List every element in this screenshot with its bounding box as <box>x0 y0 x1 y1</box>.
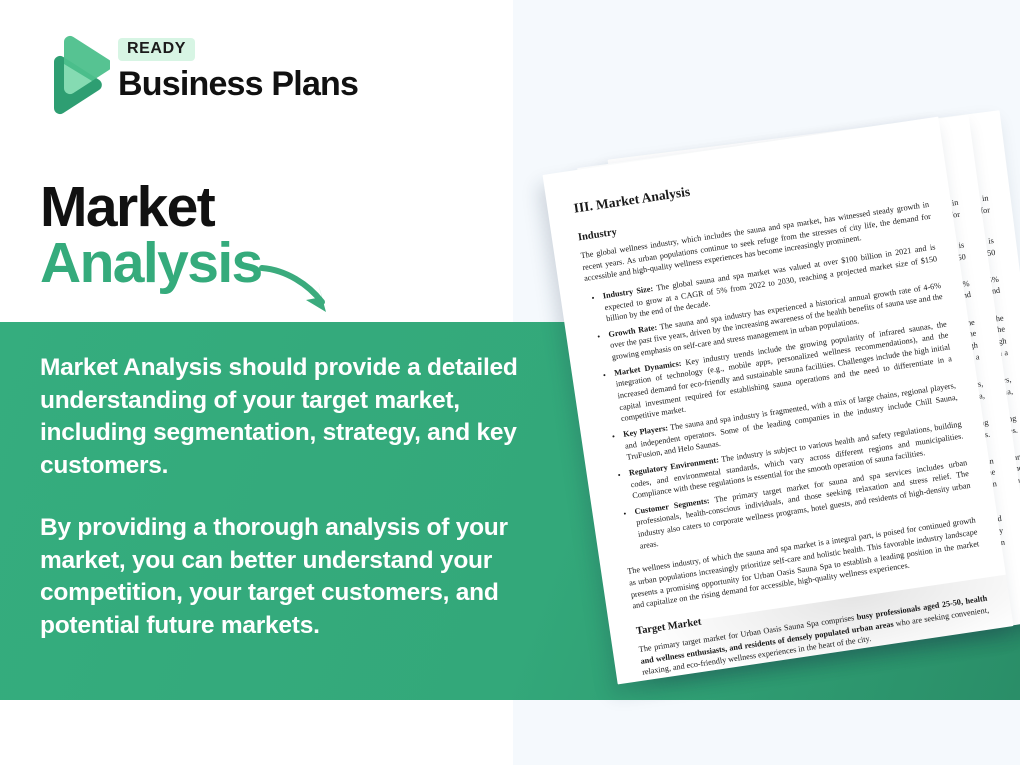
brand-wordmark: READY Business Plans <box>118 38 368 103</box>
brand-name: Business Plans <box>118 67 368 103</box>
page-title-line-2: Analysis <box>40 234 262 292</box>
play-triangle-logo-icon <box>40 34 110 116</box>
doc-bullet-list: Industry Size: The global sauna and spa … <box>586 241 973 554</box>
brand-logo[interactable]: READY Business Plans <box>40 32 370 122</box>
ready-badge: READY <box>118 38 195 61</box>
slide-canvas: READY Business Plans Market Analysis Mar… <box>0 0 1020 765</box>
page-title-line-1: Market <box>40 178 262 236</box>
curved-arrow-down-right-icon <box>256 256 346 326</box>
document-page-front: III. Market Analysis Industry The global… <box>543 117 1014 685</box>
document-stack: III. Market Analysis Industry The global… <box>470 95 1020 675</box>
page-title: Market Analysis <box>40 178 262 292</box>
